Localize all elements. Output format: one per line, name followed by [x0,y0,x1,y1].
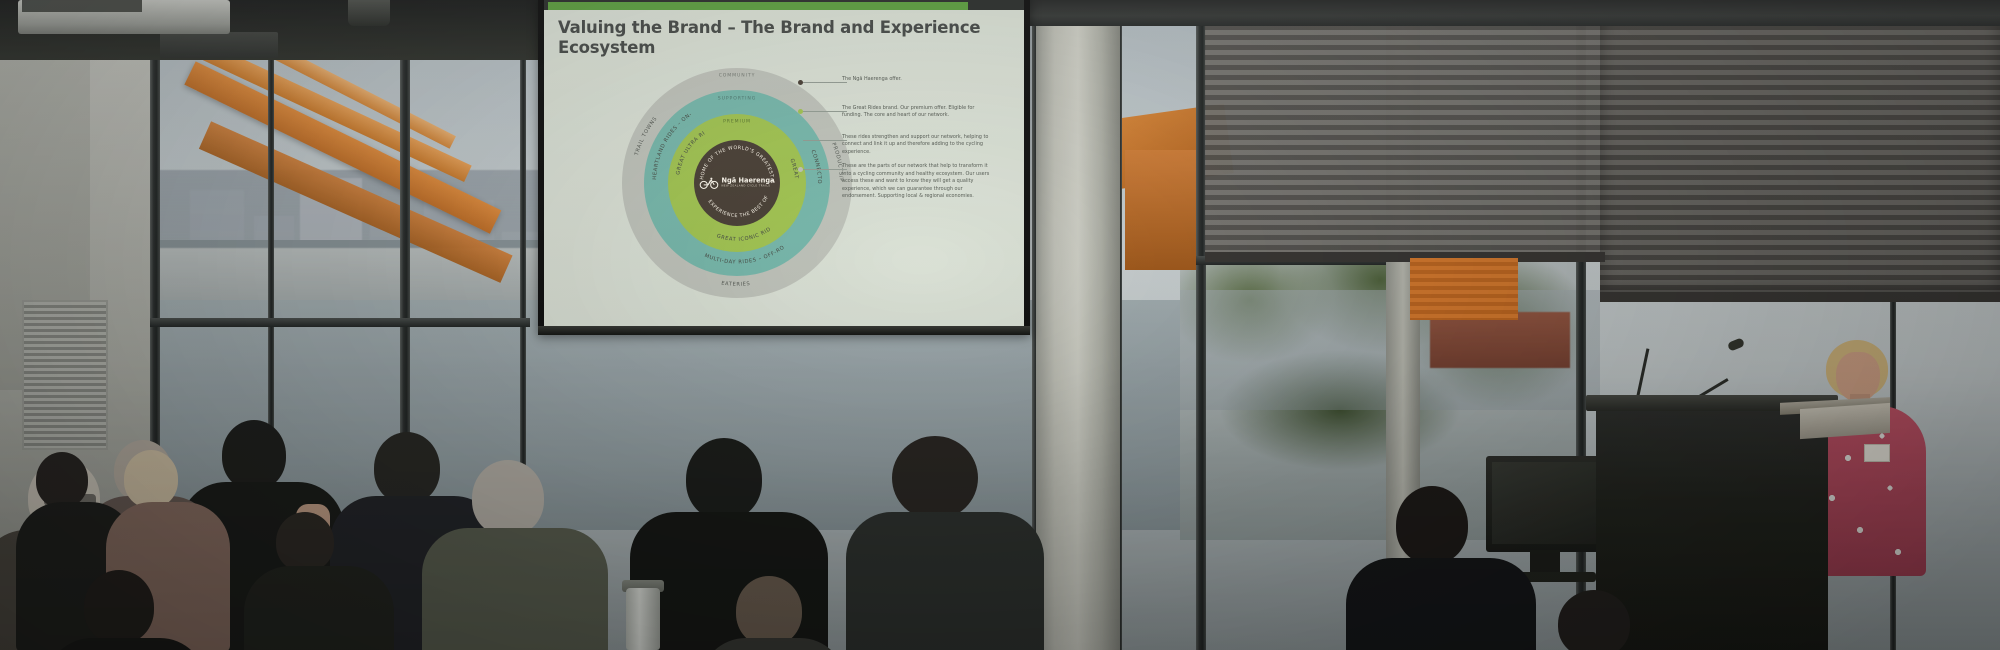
logo-name: Ngā Haerenga [721,178,774,185]
window-transom [150,318,530,327]
bicycle-icon [699,177,718,190]
blind-bottom-rail [1600,292,2000,302]
lectern [1596,404,1828,650]
venetian-blinds[interactable] [1205,0,1605,260]
slide-title: Valuing the Brand – The Brand and Experi… [558,18,988,58]
core-top-arc-text: HOME OF THE WORLD'S GREATEST CYCLING EXP… [619,64,775,184]
thermos-flask [626,588,660,650]
lectern-paper [1800,403,1890,439]
name-badge [1864,444,1890,462]
projector-lens [348,0,390,26]
projection-screen-bottom-bar [538,326,1030,335]
orange-roller-blind[interactable] [1410,258,1518,320]
projector-vent [22,0,142,12]
timber-beam [1125,150,1205,270]
wall-air-vent [22,300,108,450]
callout-text: These are the parts of our network that … [842,163,992,200]
nga-haerenga-logo: Ngā Haerenga NEW ZEALAND CYCLE TRAILS [699,177,774,190]
logo-subtitle: NEW ZEALAND CYCLE TRAILS [721,186,774,189]
monitor-screen [1492,462,1598,544]
brick-building [1430,312,1570,368]
callout-text: These rides strengthen and support our n… [842,134,992,156]
callout-text: The Ngā Haerenga offer. [842,76,992,83]
ecosystem-diagram: TRAIL TOWNS PRODUCTS/PARTNERSHIPS EATERI… [622,68,852,298]
slide-content: Valuing the Brand – The Brand and Experi… [544,10,1024,328]
presentation-room-photo: Valuing the Brand – The Brand and Experi… [0,0,2000,650]
callout-text: The Great Rides brand. Our premium offer… [842,105,992,120]
projection-screen: Valuing the Brand – The Brand and Experi… [544,0,1024,328]
projector-mount [160,32,278,58]
blind-bottom-rail [1205,252,1605,262]
venetian-blinds[interactable] [1600,0,2000,300]
core-bottom-arc-text: EXPERIENCE THE BEST OF NEW ZEALAND BY BI… [619,64,770,219]
concrete-column [1036,0,1120,650]
